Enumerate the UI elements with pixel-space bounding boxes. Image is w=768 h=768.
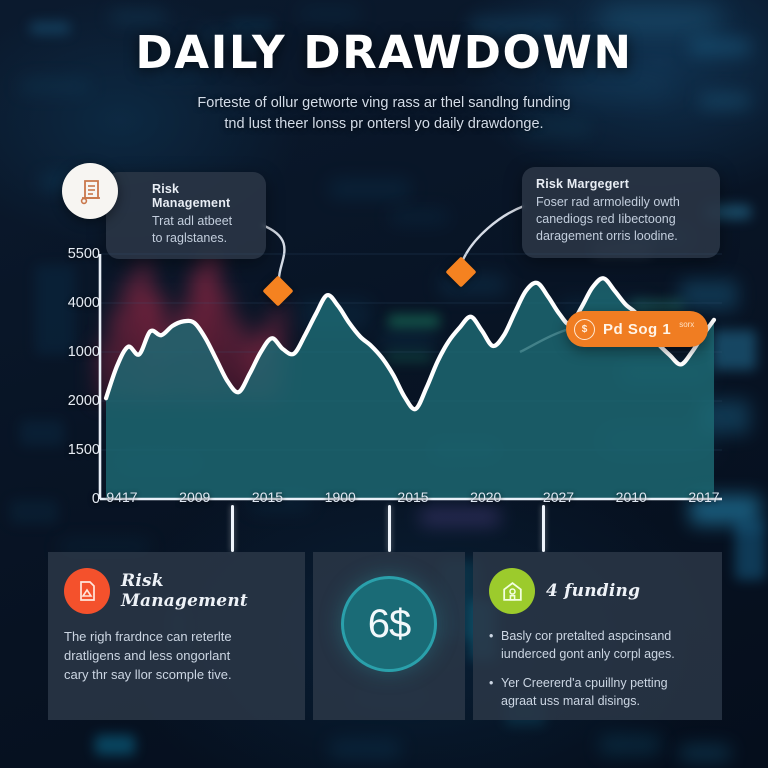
- card-3-title: 4 funding: [546, 581, 640, 601]
- chart-badge[interactable]: $ Pd Sog 1 sorx: [566, 311, 708, 347]
- card-3-bullets: Basly cor pretalted aspcinsand iunderced…: [489, 627, 706, 710]
- callout-right-line-3: daragement orris loodine.: [536, 228, 706, 245]
- connector-line-1: [231, 505, 234, 552]
- callout-left-line-2: to raglstanes.: [152, 230, 254, 247]
- card-funding[interactable]: 4 funding Basly cor pretalted aspcinsand…: [473, 552, 722, 720]
- x-tick-1: 2009: [179, 489, 210, 505]
- callout-left-title: Risk Management: [152, 182, 254, 210]
- chart-badge-superscript: sorx: [679, 320, 694, 329]
- card-value[interactable]: 6$: [313, 552, 465, 720]
- card-1-line-1: The righ frardnce can reterlte: [64, 627, 289, 646]
- card-2-value: 6$: [368, 602, 411, 647]
- infographic-stage: DAILY DRAWDOWN Forteste of ollur getwort…: [0, 0, 768, 768]
- card-3-header: 4 funding: [489, 568, 706, 614]
- house-icon: [489, 568, 535, 614]
- callout-right-line-2: canediogs red Iibectoong: [536, 211, 706, 228]
- document-chart-icon: [62, 163, 118, 219]
- card-risk-management[interactable]: Risk Management The righ frardnce can re…: [48, 552, 305, 720]
- card-1-title: Risk Management: [121, 571, 289, 611]
- callout-right-line-1: Foser rad armoledily owth: [536, 194, 706, 211]
- chart-page-icon: [64, 568, 110, 614]
- card-1-line-3: cary thr say llor scomple tive.: [64, 665, 289, 684]
- chart-badge-label: Pd Sog 1: [603, 321, 671, 338]
- x-tick-4: 2015: [397, 489, 428, 505]
- connector-line-3: [542, 505, 545, 552]
- card-1-line-2: dratligens and less ongorlant: [64, 646, 289, 665]
- connector-line-2: [388, 505, 391, 552]
- subtitle-line-1: Forteste of ollur getworte ving rass ar …: [130, 93, 638, 114]
- card-3-bullet-2: Yer Creererd'a cpuillny petting agraat u…: [489, 674, 706, 710]
- coin-icon: $: [574, 319, 595, 340]
- callout-right-title: Risk Margegert: [536, 177, 706, 191]
- value-circle: 6$: [341, 576, 437, 672]
- x-tick-3: 1900: [325, 489, 356, 505]
- callout-risk-management-right[interactable]: Risk Margegert Foser rad armoledily owth…: [522, 167, 720, 258]
- subtitle-line-2: tnd lust theer lonss pr ontersl yo daily…: [130, 114, 638, 135]
- page-subtitle: Forteste of ollur getworte ving rass ar …: [130, 93, 638, 135]
- x-tick-5: 2020: [470, 489, 501, 505]
- x-tick-7: 2010: [616, 489, 647, 505]
- card-3-bullet-1: Basly cor pretalted aspcinsand iunderced…: [489, 627, 706, 663]
- x-tick-2: 2015: [252, 489, 283, 505]
- x-tick-0: 9417: [106, 489, 137, 505]
- card-1-header: Risk Management: [64, 568, 289, 614]
- callout-left-line-1: Trat adl atbeet: [152, 213, 254, 230]
- x-tick-6: 2027: [543, 489, 574, 505]
- card-1-body: The righ frardnce can reterlte dratligen…: [64, 627, 289, 684]
- x-tick-8: 2017: [688, 489, 719, 505]
- page-title: DAILY DRAWDOWN: [0, 28, 768, 78]
